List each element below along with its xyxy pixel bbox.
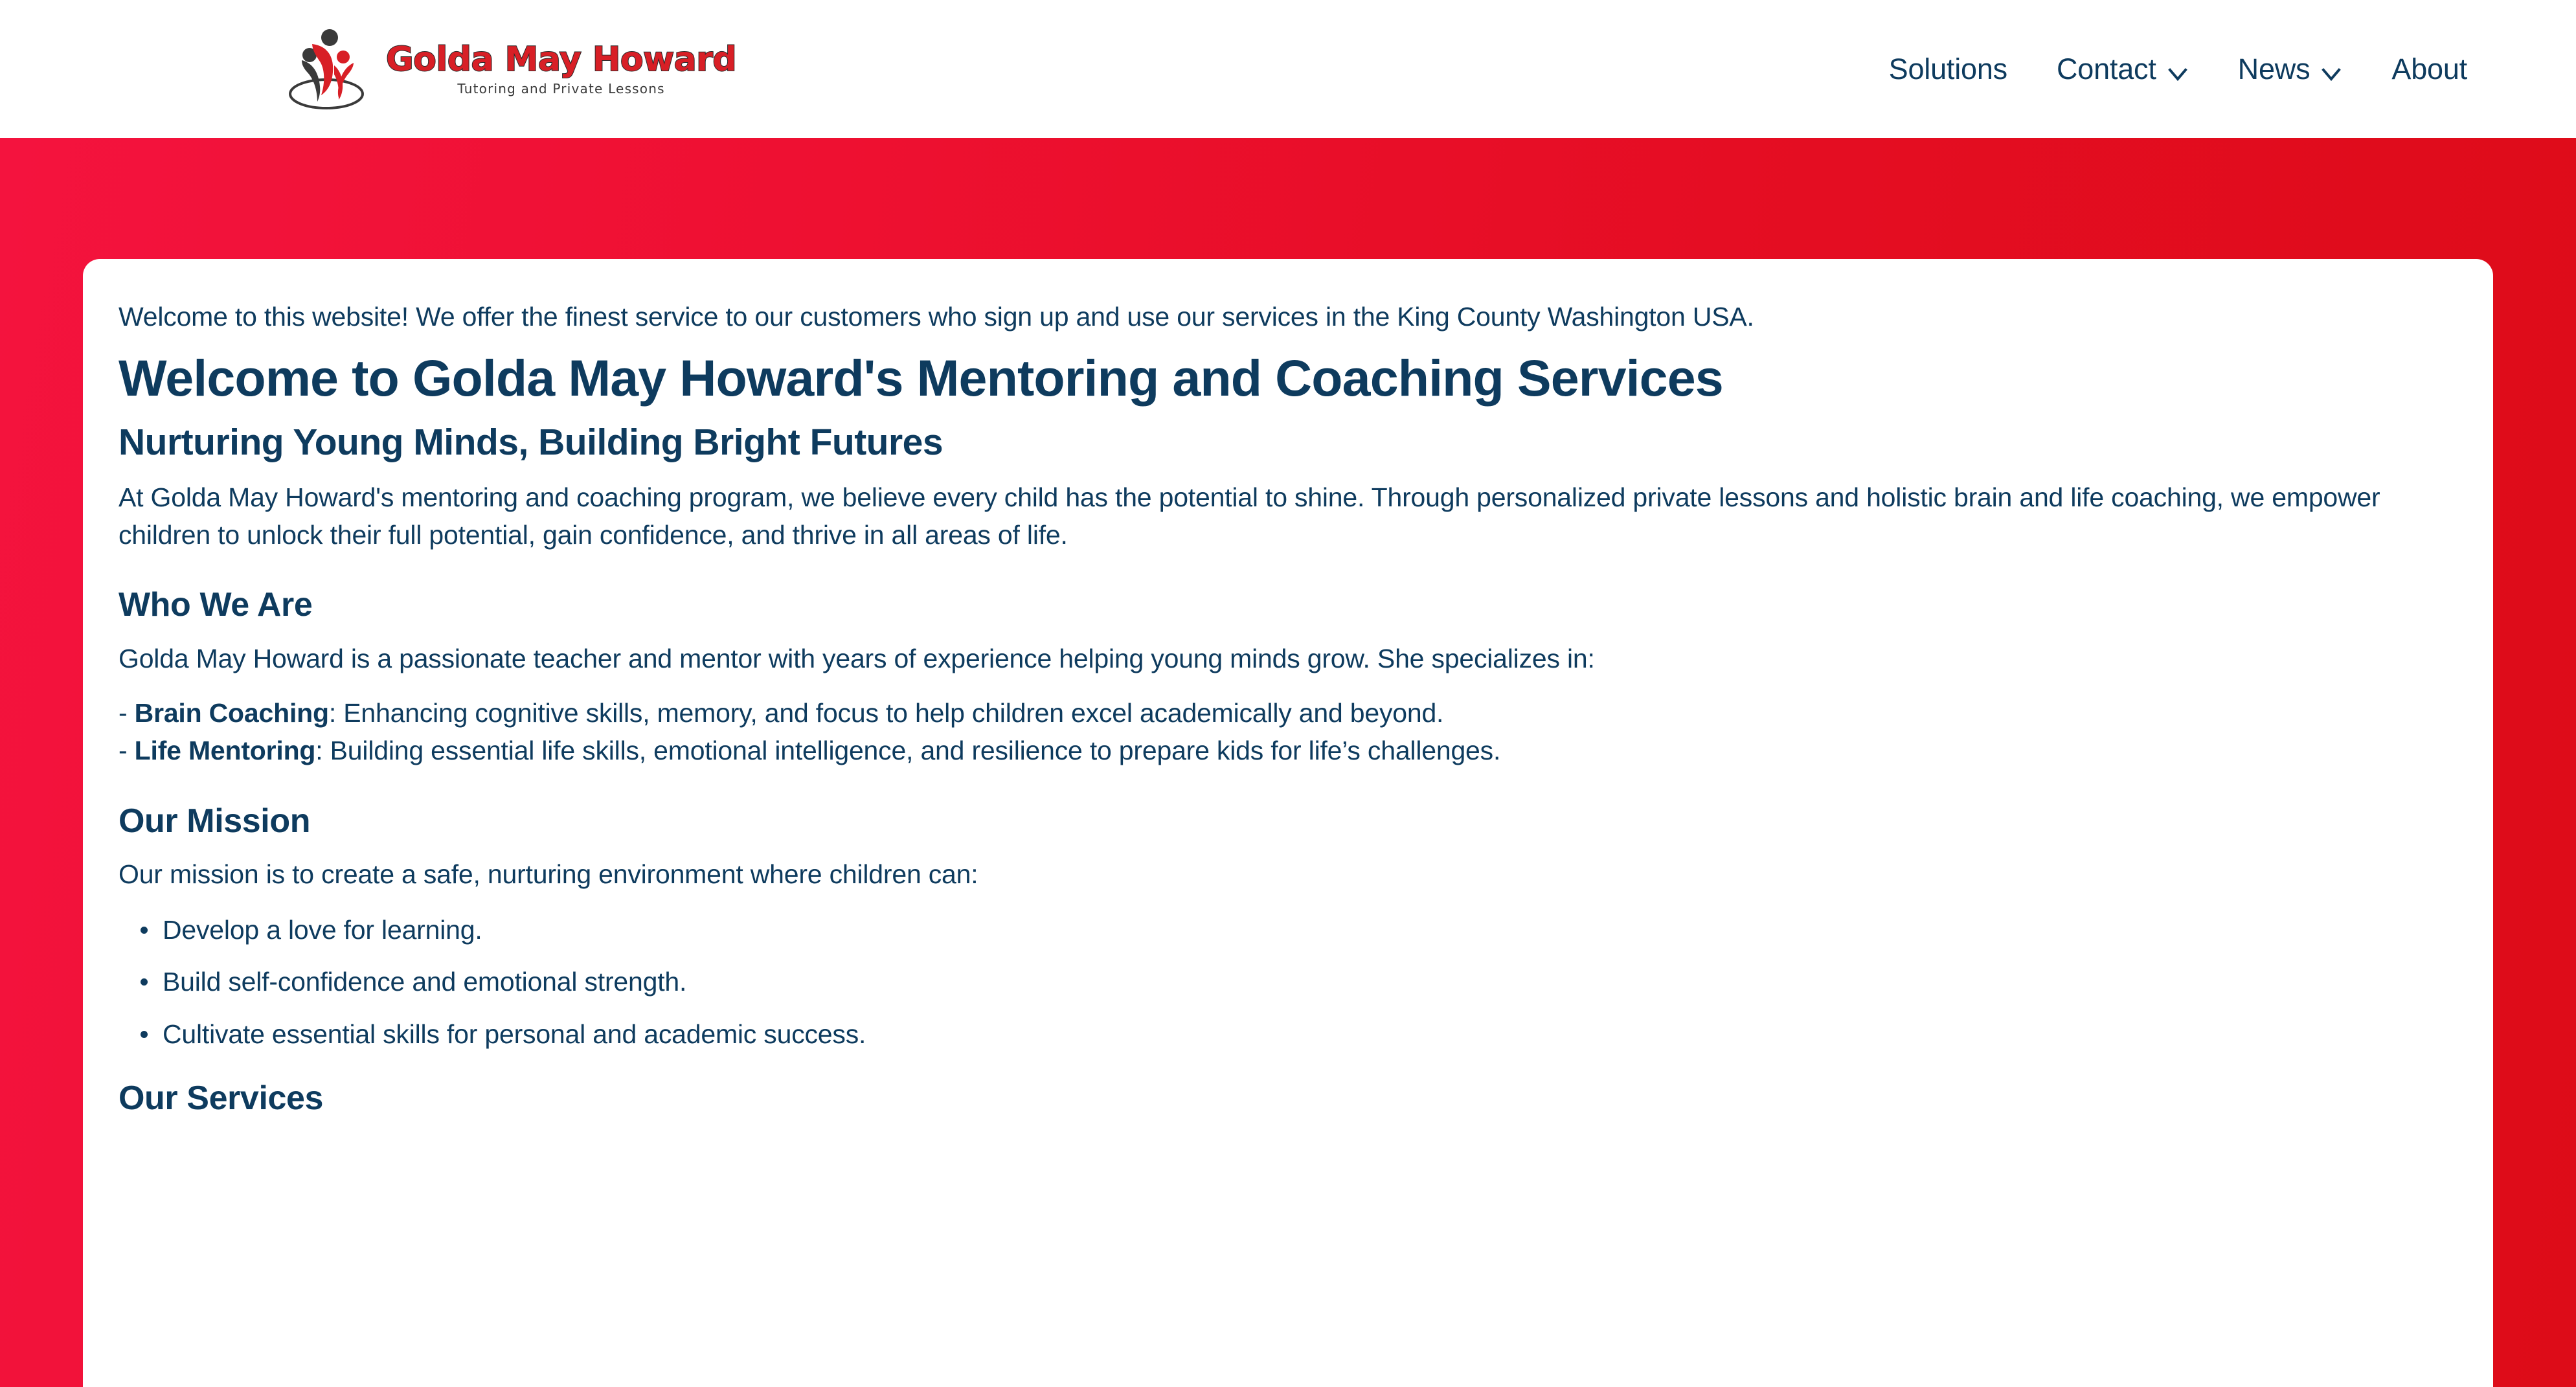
nav-label-news: News xyxy=(2238,52,2310,86)
specialty-dash: - xyxy=(119,698,135,728)
content-card: Welcome to this website! We offer the fi… xyxy=(83,259,2493,1387)
brand-tagline: Tutoring and Private Lessons xyxy=(457,82,664,95)
section-heading-our-services: Our Services xyxy=(119,1079,2457,1118)
specialty-label-brain-coaching: Brain Coaching xyxy=(135,698,329,728)
specialties-list: - Brain Coaching: Enhancing cognitive sk… xyxy=(119,694,2457,769)
nav-label-about: About xyxy=(2391,52,2467,86)
specialty-description-life-mentoring: : Building essential life skills, emotio… xyxy=(315,736,1500,765)
specialty-item-brain-coaching: - Brain Coaching: Enhancing cognitive sk… xyxy=(119,694,2457,732)
nav-label-solutions: Solutions xyxy=(1889,52,2007,86)
brand-name: Golda May Howard xyxy=(386,43,736,76)
specialty-label-life-mentoring: Life Mentoring xyxy=(135,736,316,765)
our-mission-paragraph: Our mission is to create a safe, nurturi… xyxy=(119,855,2457,893)
chevron-down-icon[interactable] xyxy=(2320,58,2342,80)
specialty-item-life-mentoring: - Life Mentoring: Building essential lif… xyxy=(119,732,2457,769)
list-item: Develop a love for learning. xyxy=(163,911,2457,949)
who-we-are-paragraph: Golda May Howard is a passionate teacher… xyxy=(119,640,2457,677)
page-title: Welcome to Golda May Howard's Mentoring … xyxy=(119,348,2457,408)
main-navigation: Solutions Contact News About xyxy=(1864,52,2492,86)
page-subtitle: Nurturing Young Minds, Building Bright F… xyxy=(119,420,2457,464)
mission-bullet-list: Develop a love for learning. Build self-… xyxy=(119,911,2457,1053)
hero-section: Welcome to this website! We offer the fi… xyxy=(0,138,2576,1387)
site-header: Golda May Howard Tutoring and Private Le… xyxy=(0,0,2576,138)
nav-item-solutions[interactable]: Solutions xyxy=(1864,52,2032,86)
lede-paragraph: At Golda May Howard's mentoring and coac… xyxy=(119,479,2457,554)
nav-label-contact: Contact xyxy=(2057,52,2156,86)
three-people-logo-icon xyxy=(278,27,374,112)
brand-wordmark: Golda May Howard Tutoring and Private Le… xyxy=(386,43,736,95)
nav-item-news[interactable]: News xyxy=(2213,52,2367,86)
brand-logo-link[interactable]: Golda May Howard Tutoring and Private Le… xyxy=(278,27,736,112)
specialty-dash: - xyxy=(119,736,135,765)
nav-item-about[interactable]: About xyxy=(2367,52,2492,86)
list-item: Cultivate essential skills for personal … xyxy=(163,1015,2457,1053)
list-item: Build self-confidence and emotional stre… xyxy=(163,963,2457,1000)
section-heading-our-mission: Our Mission xyxy=(119,801,2457,841)
intro-line: Welcome to this website! We offer the fi… xyxy=(119,298,2457,336)
chevron-down-icon[interactable] xyxy=(2167,58,2189,80)
nav-item-contact[interactable]: Contact xyxy=(2032,52,2213,86)
section-heading-who-we-are: Who We Are xyxy=(119,585,2457,625)
specialty-description-brain-coaching: : Enhancing cognitive skills, memory, an… xyxy=(329,698,1443,728)
